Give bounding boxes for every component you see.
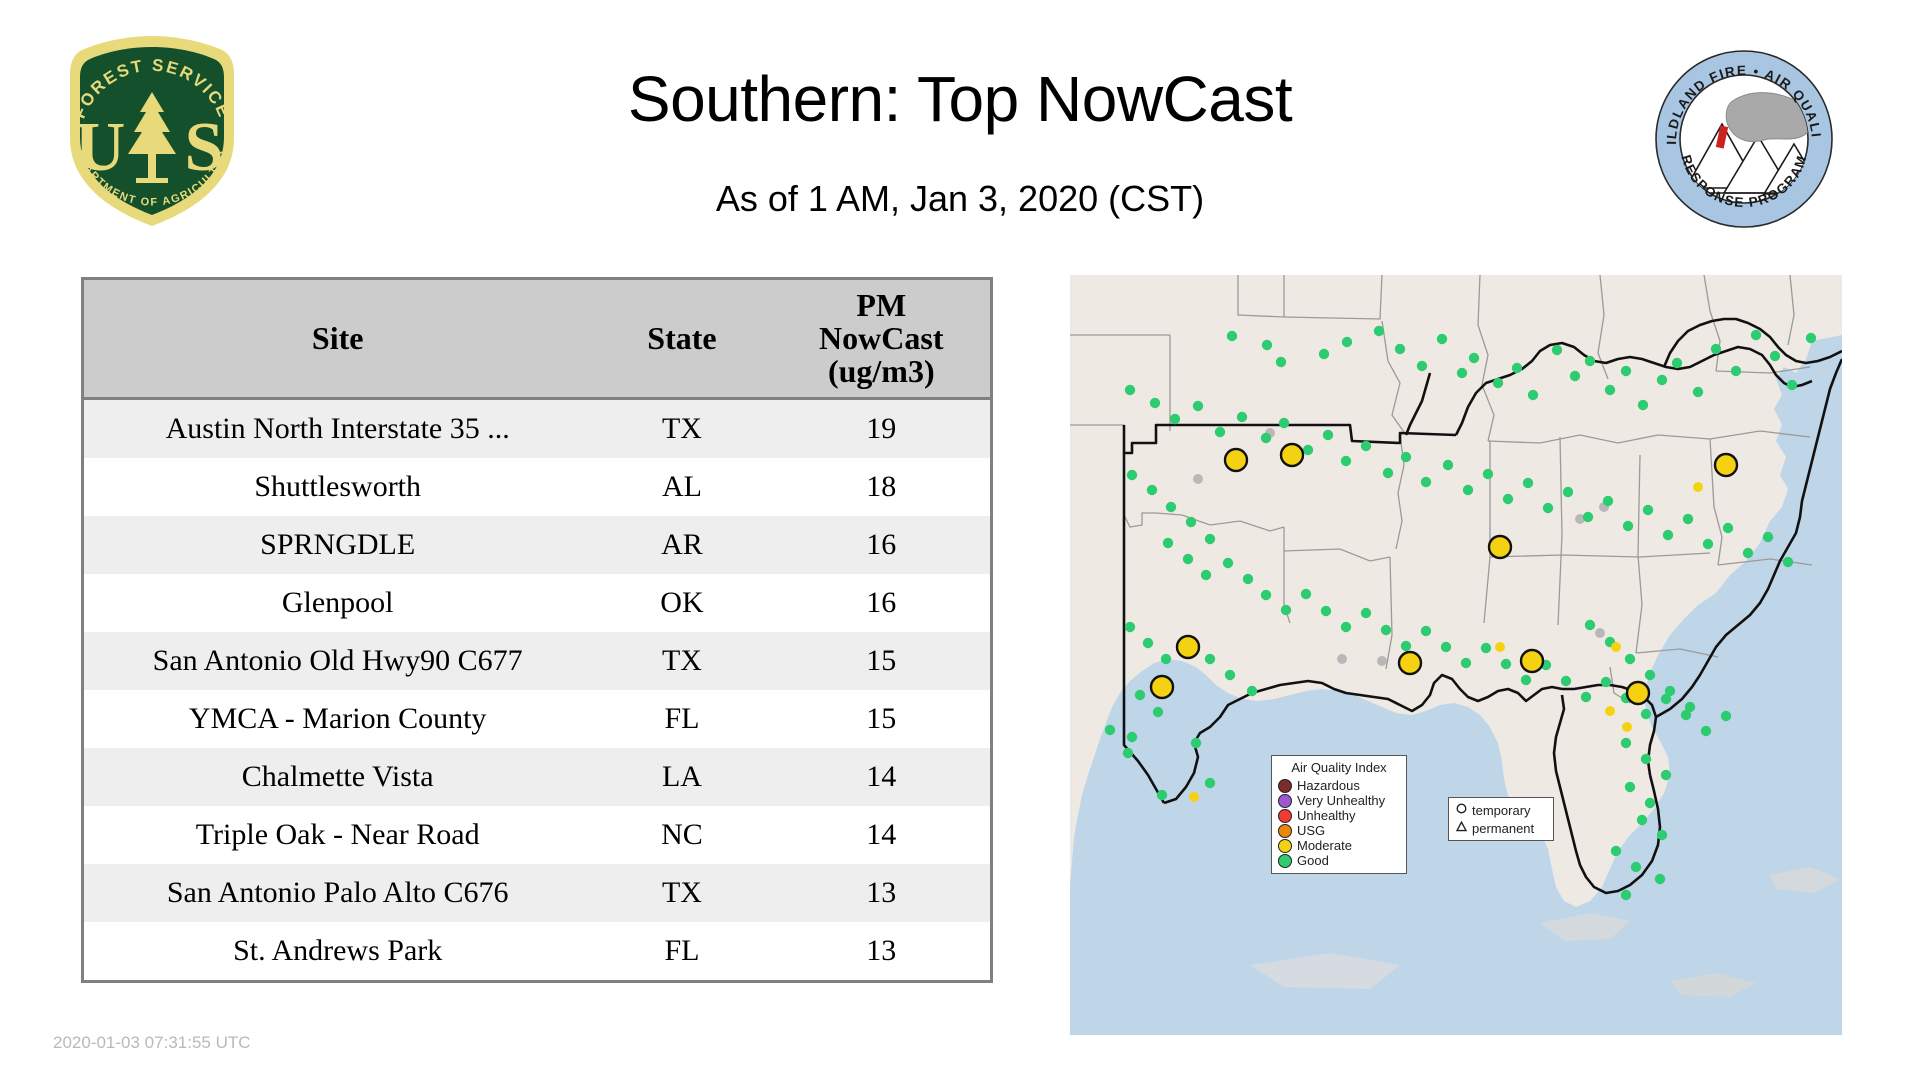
monitor-point-good[interactable] <box>1663 530 1673 540</box>
monitor-point-good[interactable] <box>1125 622 1135 632</box>
monitor-point-moderate[interactable] <box>1495 642 1505 652</box>
monitor-point-missing[interactable] <box>1193 474 1203 484</box>
monitor-point-good[interactable] <box>1503 494 1513 504</box>
monitor-point-good[interactable] <box>1342 337 1352 347</box>
monitor-point-good[interactable] <box>1247 686 1257 696</box>
aqi-legend-item: USG <box>1278 823 1400 838</box>
monitor-point-moderate[interactable] <box>1693 482 1703 492</box>
monitor-point-good[interactable] <box>1170 414 1180 424</box>
monitor-point-good[interactable] <box>1125 385 1135 395</box>
monitor-point-good[interactable] <box>1661 770 1671 780</box>
monitor-point-good[interactable] <box>1806 333 1816 343</box>
monitor-point-good[interactable] <box>1469 353 1479 363</box>
aqi-legend-label: Good <box>1297 854 1329 867</box>
monitor-point-good[interactable] <box>1223 558 1233 568</box>
us-forest-service-logo: FOREST SERVICE DEPARTMENT OF AGRICULTURE… <box>52 30 252 230</box>
symbol-legend-row-temporary: temporary <box>1453 801 1549 819</box>
shield-letter-u: U <box>75 109 126 186</box>
monitor-point-good[interactable] <box>1611 846 1621 856</box>
table-row[interactable]: Austin North Interstate 35 ...TX19 <box>84 399 990 459</box>
cell-pm-nowcast: 15 <box>773 632 990 690</box>
cell-pm-nowcast: 14 <box>773 806 990 864</box>
monitor-point-missing[interactable] <box>1595 628 1605 638</box>
monitor-point-good[interactable] <box>1641 754 1651 764</box>
table-header: Site State PM NowCast (ug/m3) <box>84 280 990 399</box>
table-row[interactable]: ShuttlesworthAL18 <box>84 458 990 516</box>
monitor-point-good[interactable] <box>1205 654 1215 664</box>
monitor-point-good[interactable] <box>1279 418 1289 428</box>
aqi-legend-label: Moderate <box>1297 839 1352 852</box>
cell-pm-nowcast: 13 <box>773 922 990 980</box>
cell-state: LA <box>591 748 772 806</box>
monitor-point-good[interactable] <box>1276 357 1286 367</box>
monitor-point-good[interactable] <box>1637 815 1647 825</box>
cell-pm-nowcast: 14 <box>773 748 990 806</box>
monitor-point-good[interactable] <box>1655 874 1665 884</box>
cell-pm-nowcast: 18 <box>773 458 990 516</box>
monitor-point-good[interactable] <box>1657 375 1667 385</box>
monitor-point-good[interactable] <box>1561 676 1571 686</box>
monitor-point-good[interactable] <box>1723 523 1733 533</box>
monitor-point-good[interactable] <box>1441 642 1451 652</box>
monitor-point-good[interactable] <box>1261 433 1271 443</box>
table-row[interactable]: YMCA - Marion CountyFL15 <box>84 690 990 748</box>
monitor-point-good[interactable] <box>1693 387 1703 397</box>
wfaq-seal-svg: WILDLAND FIRE • AIR QUALITY RESPONSE PRO… <box>1650 48 1838 230</box>
aqi-legend-label: USG <box>1297 824 1325 837</box>
monitor-point-good[interactable] <box>1763 532 1773 542</box>
cell-state: AR <box>591 516 772 574</box>
table-header-row: Site State PM NowCast (ug/m3) <box>84 280 990 399</box>
aqi-legend: Air Quality Index HazardousVery Unhealth… <box>1271 755 1407 874</box>
monitor-point-good[interactable] <box>1685 702 1695 712</box>
monitor-point-good[interactable] <box>1193 401 1203 411</box>
cell-pm-nowcast: 15 <box>773 690 990 748</box>
monitor-point-good[interactable] <box>1341 456 1351 466</box>
forest-service-shield-svg: FOREST SERVICE DEPARTMENT OF AGRICULTURE… <box>52 30 252 230</box>
monitor-point-good[interactable] <box>1523 478 1533 488</box>
monitor-point-good[interactable] <box>1237 412 1247 422</box>
cell-pm-nowcast: 16 <box>773 574 990 632</box>
monitor-point-good[interactable] <box>1703 539 1713 549</box>
monitor-point-good[interactable] <box>1521 675 1531 685</box>
monitor-point-good[interactable] <box>1381 625 1391 635</box>
monitor-point-good[interactable] <box>1321 606 1331 616</box>
symbol-legend-label-temporary: temporary <box>1472 804 1531 817</box>
monitor-point-good[interactable] <box>1341 622 1351 632</box>
shield-letter-s: S <box>185 109 224 186</box>
column-header-pm-line3: (ug/m3) <box>773 355 990 388</box>
monitor-point-good[interactable] <box>1303 445 1313 455</box>
monitor-point-good[interactable] <box>1161 654 1171 664</box>
monitor-point-good[interactable] <box>1621 738 1631 748</box>
monitor-point-good[interactable] <box>1191 738 1201 748</box>
monitor-point-moderate[interactable] <box>1611 642 1621 652</box>
cell-state: NC <box>591 806 772 864</box>
monitor-point-good[interactable] <box>1421 626 1431 636</box>
cell-site: Chalmette Vista <box>84 748 591 806</box>
monitor-point-good[interactable] <box>1721 711 1731 721</box>
column-header-site-label: Site <box>312 320 364 356</box>
monitor-point-good[interactable] <box>1621 366 1631 376</box>
monitor-point-good[interactable] <box>1123 748 1133 758</box>
monitor-point-good[interactable] <box>1631 862 1641 872</box>
table-row[interactable]: GlenpoolOK16 <box>84 574 990 632</box>
monitor-point-good[interactable] <box>1770 351 1780 361</box>
monitor-point-good[interactable] <box>1563 487 1573 497</box>
monitor-point-good[interactable] <box>1645 798 1655 808</box>
map-svg <box>1070 275 1842 1035</box>
cell-state: FL <box>591 922 772 980</box>
aqi-legend-item: Moderate <box>1278 838 1400 853</box>
monitor-point-good[interactable] <box>1643 505 1653 515</box>
aqi-swatch-icon <box>1278 824 1292 838</box>
monitor-point-good[interactable] <box>1751 330 1761 340</box>
monitor-point-good[interactable] <box>1585 356 1595 366</box>
monitor-point-good[interactable] <box>1493 378 1503 388</box>
cell-site: Austin North Interstate 35 ... <box>84 399 591 459</box>
monitor-point-good[interactable] <box>1437 334 1447 344</box>
cell-site: San Antonio Palo Alto C676 <box>84 864 591 922</box>
monitor-point-missing[interactable] <box>1377 656 1387 666</box>
monitor-point-good[interactable] <box>1201 570 1211 580</box>
monitor-point-good[interactable] <box>1552 345 1562 355</box>
monitor-point-good[interactable] <box>1383 468 1393 478</box>
aqi-legend-rows: HazardousVery UnhealthyUnhealthyUSGModer… <box>1278 778 1400 868</box>
monitor-point-good[interactable] <box>1623 521 1633 531</box>
cell-site: Glenpool <box>84 574 591 632</box>
monitor-point-good[interactable] <box>1153 707 1163 717</box>
monitor-point-good[interactable] <box>1105 725 1115 735</box>
monitor-point-good[interactable] <box>1163 538 1173 548</box>
monitor-point-good[interactable] <box>1205 778 1215 788</box>
circle-icon <box>1453 801 1469 819</box>
monitor-point-moderate-top[interactable] <box>1627 682 1649 704</box>
cell-pm-nowcast: 13 <box>773 864 990 922</box>
monitor-point-good[interactable] <box>1443 460 1453 470</box>
monitor-point-good[interactable] <box>1135 690 1145 700</box>
aqi-legend-item: Good <box>1278 853 1400 868</box>
monitor-point-good[interactable] <box>1262 340 1272 350</box>
monitor-point-good[interactable] <box>1625 782 1635 792</box>
page-subtitle: As of 1 AM, Jan 3, 2020 (CST) <box>300 178 1620 220</box>
cell-state: TX <box>591 864 772 922</box>
table-row[interactable]: St. Andrews ParkFL13 <box>84 922 990 980</box>
aqi-legend-label: Unhealthy <box>1297 809 1356 822</box>
monitor-point-good[interactable] <box>1672 358 1682 368</box>
monitor-point-moderate-top[interactable] <box>1521 650 1543 672</box>
monitor-point-good[interactable] <box>1150 398 1160 408</box>
monitor-point-good[interactable] <box>1583 512 1593 522</box>
monitor-point-good[interactable] <box>1657 830 1667 840</box>
monitor-point-good[interactable] <box>1483 469 1493 479</box>
aqi-swatch-icon <box>1278 809 1292 823</box>
cell-site: St. Andrews Park <box>84 922 591 980</box>
symbol-legend-row-permanent: permanent <box>1453 819 1549 837</box>
monitor-point-moderate-top[interactable] <box>1489 536 1511 558</box>
aqi-swatch-icon <box>1278 854 1292 868</box>
monitor-point-good[interactable] <box>1166 502 1176 512</box>
monitor-point-good[interactable] <box>1463 485 1473 495</box>
monitor-point-good[interactable] <box>1319 349 1329 359</box>
monitor-point-good[interactable] <box>1374 326 1384 336</box>
monitor-point-good[interactable] <box>1543 503 1553 513</box>
monitor-point-good[interactable] <box>1205 534 1215 544</box>
monitor-point-good[interactable] <box>1701 726 1711 736</box>
column-header-pm-nowcast[interactable]: PM NowCast (ug/m3) <box>773 280 990 399</box>
monitor-point-good[interactable] <box>1528 390 1538 400</box>
monitor-point-good[interactable] <box>1147 485 1157 495</box>
monitor-point-good[interactable] <box>1601 677 1611 687</box>
aqi-swatch-icon <box>1278 839 1292 853</box>
monitor-point-good[interactable] <box>1143 638 1153 648</box>
table-row[interactable]: Triple Oak - Near RoadNC14 <box>84 806 990 864</box>
monitor-point-good[interactable] <box>1461 658 1471 668</box>
aqi-swatch-icon <box>1278 794 1292 808</box>
monitor-point-good[interactable] <box>1225 670 1235 680</box>
cell-pm-nowcast: 16 <box>773 516 990 574</box>
table-row[interactable]: San Antonio Old Hwy90 C677TX15 <box>84 632 990 690</box>
monitor-point-moderate[interactable] <box>1605 706 1615 716</box>
monitor-point-good[interactable] <box>1243 574 1253 584</box>
generated-timestamp: 2020-01-03 07:31:55 UTC <box>53 1033 251 1053</box>
monitor-point-good[interactable] <box>1183 554 1193 564</box>
table-row[interactable]: San Antonio Palo Alto C676TX13 <box>84 864 990 922</box>
aqi-legend-item: Very Unhealthy <box>1278 793 1400 808</box>
monitor-point-good[interactable] <box>1621 890 1631 900</box>
monitor-point-moderate-top[interactable] <box>1225 449 1247 471</box>
monitor-point-good[interactable] <box>1401 452 1411 462</box>
aqi-legend-title: Air Quality Index <box>1278 760 1400 775</box>
column-header-pm-line1: PM <box>773 289 990 322</box>
monitor-point-good[interactable] <box>1157 790 1167 800</box>
monitor-point-good[interactable] <box>1501 659 1511 669</box>
column-header-pm-line2: NowCast <box>773 322 990 355</box>
cell-state: TX <box>591 399 772 459</box>
aqi-legend-item: Hazardous <box>1278 778 1400 793</box>
monitor-point-good[interactable] <box>1417 361 1427 371</box>
aqi-legend-label: Hazardous <box>1297 779 1360 792</box>
cell-state: FL <box>591 690 772 748</box>
monitor-point-moderate[interactable] <box>1189 792 1199 802</box>
monitor-point-good[interactable] <box>1711 344 1721 354</box>
table-row[interactable]: SPRNGDLEAR16 <box>84 516 990 574</box>
monitor-point-moderate-top[interactable] <box>1399 652 1421 674</box>
monitor-point-good[interactable] <box>1401 641 1411 651</box>
column-header-state[interactable]: State <box>591 280 772 399</box>
monitor-point-good[interactable] <box>1665 686 1675 696</box>
triangle-icon <box>1453 819 1469 837</box>
wildland-fire-air-quality-logo: WILDLAND FIRE • AIR QUALITY RESPONSE PRO… <box>1650 48 1838 230</box>
column-header-state-label: State <box>647 320 716 356</box>
monitor-point-good[interactable] <box>1323 430 1333 440</box>
monitor-point-good[interactable] <box>1457 368 1467 378</box>
aqi-swatch-icon <box>1278 779 1292 793</box>
monitor-point-moderate-top[interactable] <box>1281 444 1303 466</box>
monitor-point-moderate[interactable] <box>1622 722 1632 732</box>
monitor-point-good[interactable] <box>1361 608 1371 618</box>
monitor-point-good[interactable] <box>1301 589 1311 599</box>
top-nowcast-table: Site State PM NowCast (ug/m3) Austin Nor… <box>81 277 993 983</box>
monitor-point-good[interactable] <box>1127 732 1137 742</box>
monitor-point-good[interactable] <box>1783 557 1793 567</box>
monitor-point-good[interactable] <box>1581 692 1591 702</box>
cell-site: Triple Oak - Near Road <box>84 806 591 864</box>
cell-site: SPRNGDLE <box>84 516 591 574</box>
cell-state: TX <box>591 632 772 690</box>
aqi-legend-label: Very Unhealthy <box>1297 794 1385 807</box>
cell-pm-nowcast: 19 <box>773 399 990 459</box>
monitor-point-moderate-top[interactable] <box>1715 454 1737 476</box>
monitor-point-good[interactable] <box>1743 548 1753 558</box>
monitor-point-good[interactable] <box>1421 477 1431 487</box>
monitor-point-moderate-top[interactable] <box>1177 636 1199 658</box>
symbol-legend: temporary permanent <box>1448 797 1554 841</box>
table-body: Austin North Interstate 35 ...TX19Shuttl… <box>84 399 990 981</box>
monitor-point-good[interactable] <box>1215 427 1225 437</box>
monitor-point-good[interactable] <box>1605 385 1615 395</box>
monitor-point-good[interactable] <box>1570 371 1580 381</box>
monitor-point-good[interactable] <box>1638 400 1648 410</box>
monitor-point-good[interactable] <box>1481 643 1491 653</box>
cell-state: OK <box>591 574 772 632</box>
southern-region-map[interactable] <box>1070 275 1842 1035</box>
monitor-point-good[interactable] <box>1261 590 1271 600</box>
page-title: Southern: Top NowCast <box>300 62 1620 136</box>
monitor-point-moderate-top[interactable] <box>1151 676 1173 698</box>
monitor-point-good[interactable] <box>1625 654 1635 664</box>
aqi-legend-item: Unhealthy <box>1278 808 1400 823</box>
column-header-site[interactable]: Site <box>84 280 591 399</box>
cell-state: AL <box>591 458 772 516</box>
monitor-point-good[interactable] <box>1787 380 1797 390</box>
monitor-point-good[interactable] <box>1186 517 1196 527</box>
symbol-legend-label-permanent: permanent <box>1472 822 1534 835</box>
monitor-point-good[interactable] <box>1585 620 1595 630</box>
monitor-point-good[interactable] <box>1281 605 1291 615</box>
nowcast-table: Site State PM NowCast (ug/m3) Austin Nor… <box>84 280 990 980</box>
cell-site: YMCA - Marion County <box>84 690 591 748</box>
monitor-point-good[interactable] <box>1127 470 1137 480</box>
monitor-point-good[interactable] <box>1361 441 1371 451</box>
monitor-point-good[interactable] <box>1512 363 1522 373</box>
cell-site: San Antonio Old Hwy90 C677 <box>84 632 591 690</box>
monitor-point-good[interactable] <box>1645 670 1655 680</box>
cell-site: Shuttlesworth <box>84 458 591 516</box>
table-row[interactable]: Chalmette VistaLA14 <box>84 748 990 806</box>
monitor-point-good[interactable] <box>1683 514 1693 524</box>
monitor-point-missing[interactable] <box>1337 654 1347 664</box>
monitor-point-good[interactable] <box>1603 496 1613 506</box>
monitor-point-good[interactable] <box>1395 344 1405 354</box>
monitor-point-good[interactable] <box>1641 709 1651 719</box>
monitor-point-good[interactable] <box>1227 331 1237 341</box>
monitor-point-good[interactable] <box>1731 366 1741 376</box>
